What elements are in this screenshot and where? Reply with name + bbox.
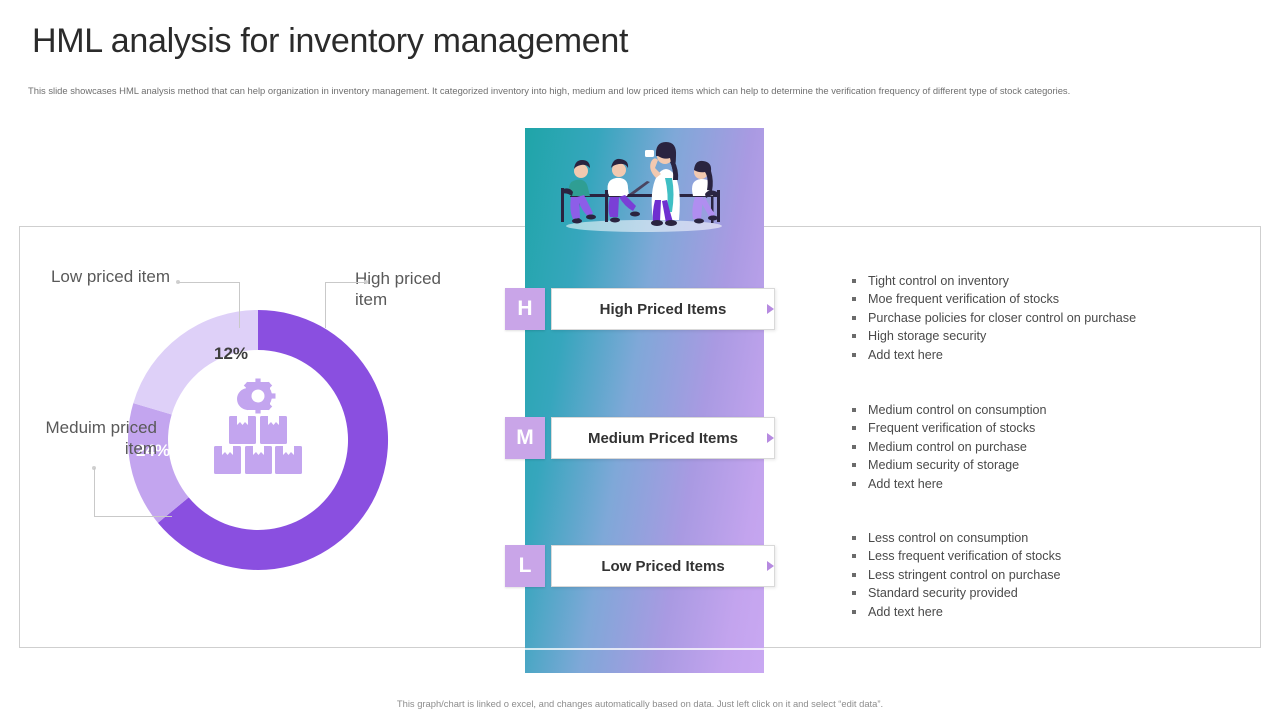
badge-h[interactable]: H <box>505 288 545 330</box>
bullet-group-low: Less control on consumption Less frequen… <box>852 529 1232 621</box>
list-item: Medium control on purchase <box>852 438 1232 456</box>
slide-root: HML analysis for inventory management Th… <box>0 0 1280 720</box>
leader-line-medium-v <box>94 468 95 517</box>
donut-value-high: 64% <box>340 545 374 564</box>
callout-high-label: High priced item <box>355 268 445 310</box>
page-subtitle: This slide showcases HML analysis method… <box>28 84 1236 97</box>
page-title: HML analysis for inventory management <box>32 22 628 61</box>
list-item: Less stringent control on purchase <box>852 566 1232 584</box>
badge-l[interactable]: L <box>505 545 545 587</box>
leader-line-high-v <box>325 282 326 328</box>
list-item: Medium control on consumption <box>852 401 1232 419</box>
card-high-label: High Priced Items <box>600 301 727 318</box>
list-item: Tight control on inventory <box>852 272 1232 290</box>
badge-m[interactable]: M <box>505 417 545 459</box>
list-item: Add text here <box>852 603 1232 621</box>
chevron-right-icon-medium <box>767 433 774 443</box>
list-item: Less control on consumption <box>852 529 1232 547</box>
panel-divider-line <box>525 648 764 650</box>
callout-medium-label: Meduim priced item <box>12 417 157 459</box>
list-item: High storage security <box>852 327 1232 345</box>
list-item: Moe frequent verification of stocks <box>852 290 1232 308</box>
list-item: Purchase policies for closer control on … <box>852 309 1232 327</box>
donut-value-low: 12% <box>214 344 248 363</box>
card-high-priced-items[interactable]: High Priced Items <box>551 288 775 330</box>
list-item: Medium security of storage <box>852 456 1232 474</box>
bullet-group-medium: Medium control on consumption Frequent v… <box>852 401 1232 493</box>
leader-line-high-h <box>325 282 366 283</box>
chevron-right-icon-low <box>767 561 774 571</box>
list-item: Standard security provided <box>852 584 1232 602</box>
footer-note: This graph/chart is linked o excel, and … <box>0 698 1280 709</box>
list-item: Less frequent verification of stocks <box>852 547 1232 565</box>
list-item: Add text here <box>852 475 1232 493</box>
card-medium-priced-items[interactable]: Medium Priced Items <box>551 417 775 459</box>
gradient-panel <box>525 128 764 673</box>
leader-line-low-v <box>239 282 240 328</box>
card-low-label: Low Priced Items <box>601 558 724 575</box>
card-medium-label: Medium Priced Items <box>588 430 738 447</box>
team-meeting-illustration <box>525 128 764 238</box>
chevron-right-icon-high <box>767 304 774 314</box>
bullet-group-high: Tight control on inventory Moe frequent … <box>852 272 1232 364</box>
card-low-priced-items[interactable]: Low Priced Items <box>551 545 775 587</box>
leader-line-medium-h <box>94 516 172 517</box>
callout-low-label: Low priced item <box>40 266 170 287</box>
list-item: Add text here <box>852 346 1232 364</box>
list-item: Frequent verification of stocks <box>852 419 1232 437</box>
leader-line-low-h <box>178 282 240 283</box>
gear-icon <box>241 379 276 414</box>
